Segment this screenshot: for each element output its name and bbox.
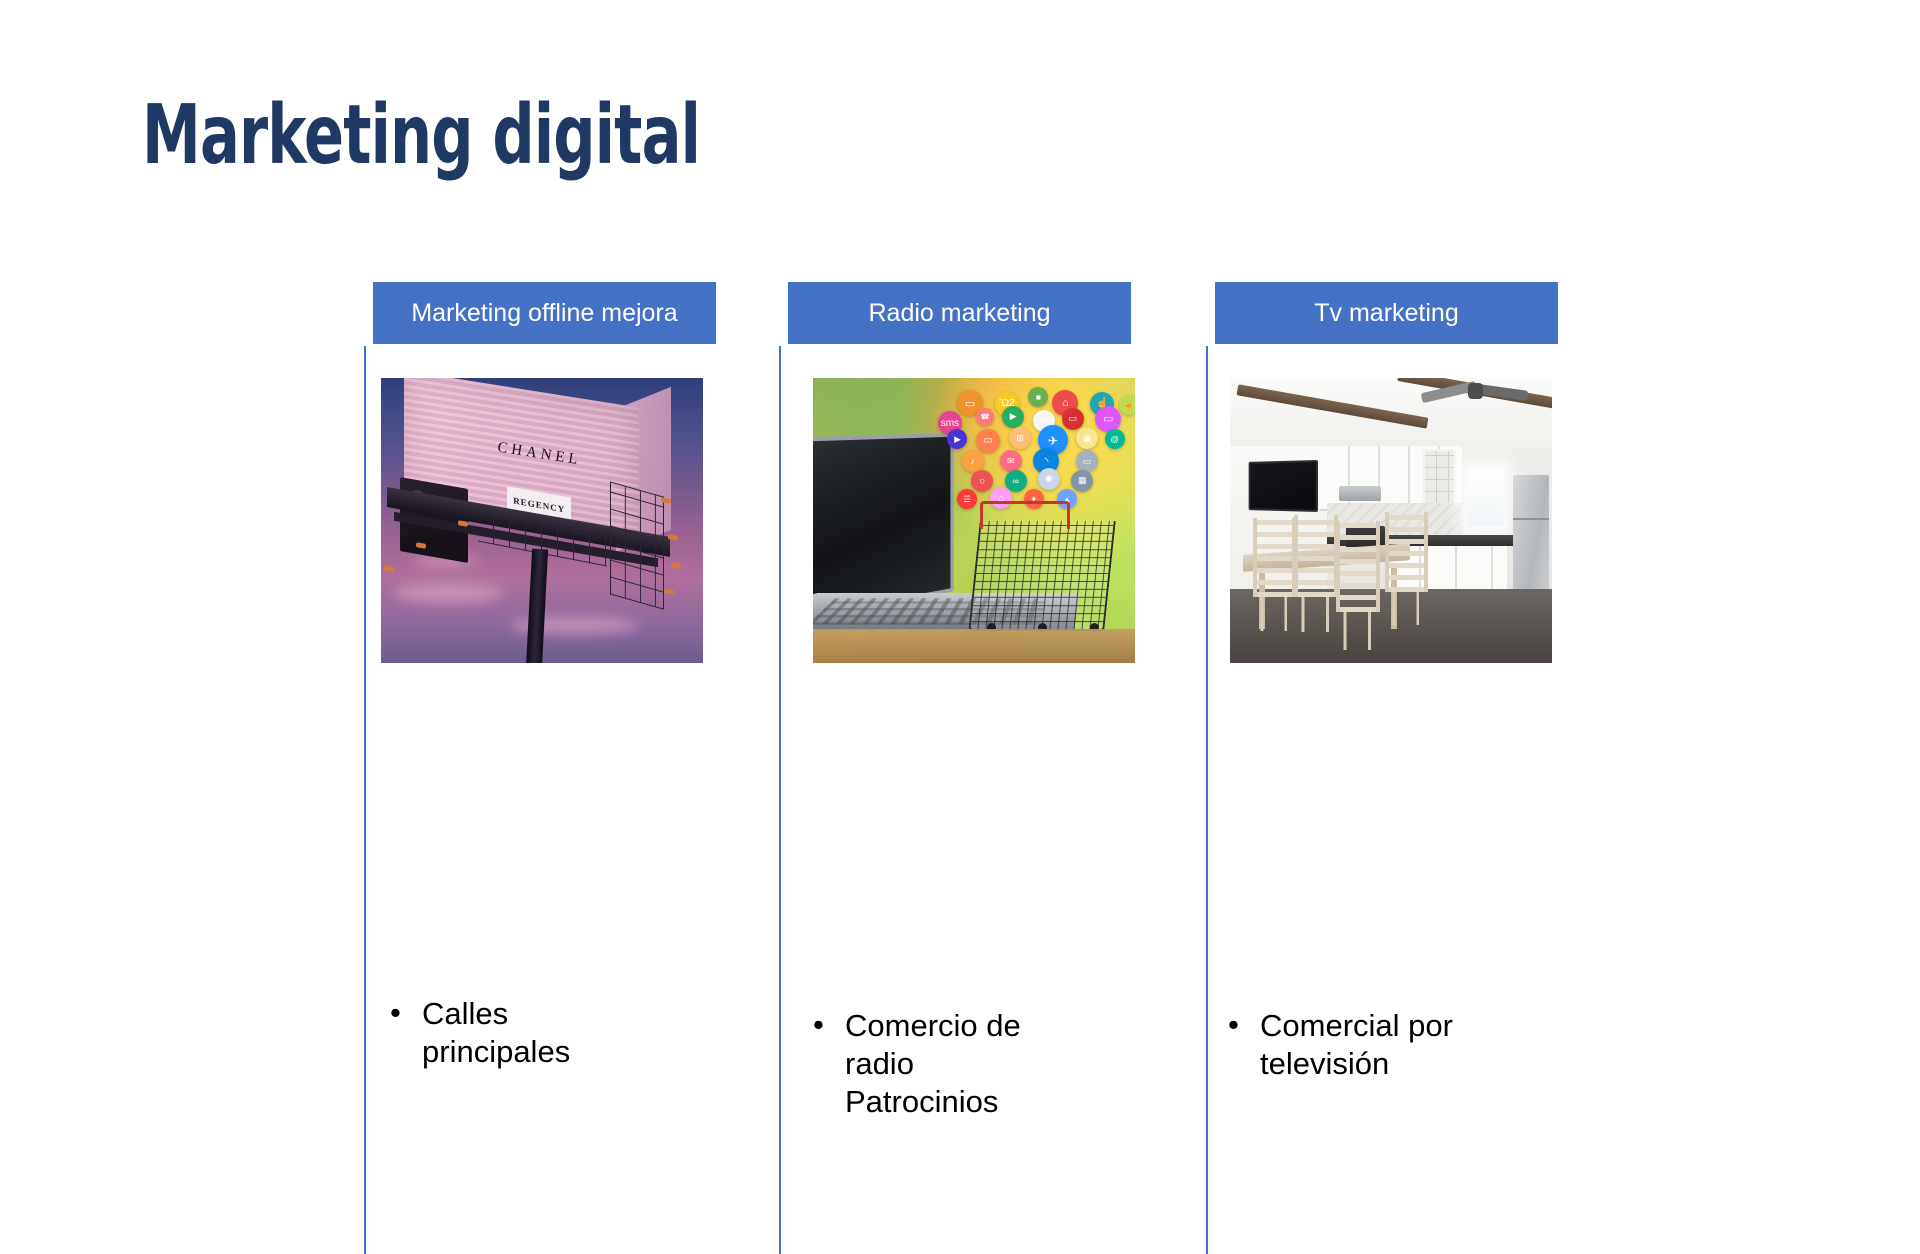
column-divider-line <box>779 346 781 1254</box>
billboard-pole <box>526 549 548 663</box>
radio-icon: ▣ <box>1076 427 1098 449</box>
laptop-app-icons-illustration: ▭Ὥ2■⌂☝☝sms☎▶□▭▭▶▭⊞✈▣@♪✉◝▭○∞◉▦☰⌂✦▲ <box>813 378 1135 663</box>
kitchen-tv-illustration <box>1230 378 1552 663</box>
chair-legs <box>1298 597 1333 632</box>
bullet-line: principales <box>422 1033 718 1071</box>
like-icon: ☝ <box>1119 395 1135 415</box>
chart-icon: ■ <box>1028 387 1048 407</box>
calc-icon: ▦ <box>1071 470 1093 492</box>
column-1-image: CHANEL REGENCY <box>381 378 703 663</box>
column-divider-line <box>364 346 366 1254</box>
shopping-cart-handle <box>980 501 1070 530</box>
dining-chair <box>1294 515 1337 598</box>
column-divider-line <box>1206 346 1208 1254</box>
bullet-line: televisión <box>1260 1045 1556 1083</box>
three-column-layout: Marketing offline mejora CHANEL REGENCY <box>0 0 1920 1080</box>
ceiling-fan-icon <box>1417 378 1533 412</box>
bullet-line: Patrocinios <box>845 1083 1141 1121</box>
column-1-header-label: Marketing offline mejora <box>411 299 677 328</box>
column-2-image: ▭Ὥ2■⌂☝☝sms☎▶□▭▭▶▭⊞✈▣@♪✉◝▭○∞◉▦☰⌂✦▲ <box>813 378 1135 663</box>
chair-legs <box>1389 592 1424 626</box>
list-item: Calles principales <box>388 995 718 1071</box>
bullet-line: Comercio de <box>845 1007 1141 1045</box>
range-hood <box>1339 486 1381 500</box>
play-icon: ▶ <box>1002 406 1024 428</box>
music-icon: ♪ <box>962 450 984 472</box>
billboard-lamp <box>661 497 671 504</box>
shopping-cart-basket <box>968 521 1116 631</box>
billboard-lamp <box>384 565 394 572</box>
list-item: Comercio de radio Patrocinios <box>811 1007 1141 1120</box>
wallet-icon: ▭ <box>1095 406 1121 432</box>
column-3-bullet-list: Comercial por televisión <box>1226 1007 1556 1083</box>
fan-hub <box>1468 383 1483 400</box>
mail-icon: @ <box>1105 429 1125 449</box>
column-3-image <box>1230 378 1552 663</box>
bullet-line: radio <box>845 1045 1141 1083</box>
laptop-icon: ▭ <box>976 429 1000 453</box>
search-icon: ○ <box>971 470 993 492</box>
dining-chair <box>1385 512 1428 592</box>
chair-legs <box>1257 597 1292 631</box>
wooden-table-surface <box>813 629 1135 663</box>
doc-icon: ☰ <box>957 489 977 509</box>
wall-mounted-tv <box>1249 460 1318 512</box>
kitchen-window <box>1465 466 1506 529</box>
billboard-lamp <box>664 588 674 595</box>
slide-canvas: Marketing digital Marketing offline mejo… <box>0 0 1920 1080</box>
dining-chair <box>1336 521 1379 612</box>
refrigerator <box>1513 475 1548 606</box>
billboard-illustration: CHANEL REGENCY <box>381 378 703 663</box>
phone-icon: ☎ <box>976 408 994 426</box>
column-2-bullet-list: Comercio de radio Patrocinios <box>811 1007 1141 1120</box>
column-2-header-label: Radio marketing <box>868 299 1050 328</box>
bullet-line: Comercial por <box>1260 1007 1556 1045</box>
bullet-line: Calles <box>422 995 718 1033</box>
dining-chair <box>1253 518 1296 598</box>
column-3-header-label: Tv marketing <box>1314 299 1458 328</box>
chair-legs <box>1340 612 1375 650</box>
column-1-header[interactable]: Marketing offline mejora <box>373 282 716 344</box>
link-icon: ∞ <box>1005 470 1027 492</box>
grid-icon: ⊞ <box>1009 427 1031 449</box>
column-3-header[interactable]: Tv marketing <box>1215 282 1558 344</box>
video-icon: ▶ <box>947 429 967 449</box>
billboard-lamp <box>671 562 681 569</box>
billboard-lattice-frame <box>610 481 664 609</box>
column-2-header[interactable]: Radio marketing <box>788 282 1131 344</box>
column-1-bullet-list: Calles principales <box>388 995 718 1071</box>
glass-front-cabinet <box>1423 449 1456 504</box>
cloud-shape <box>394 583 503 603</box>
list-item: Comercial por televisión <box>1226 1007 1556 1083</box>
card-icon: ▭ <box>1062 408 1084 430</box>
camera-icon: ◉ <box>1038 468 1060 490</box>
car-icon: ▭ <box>1076 450 1098 472</box>
envelope-icon: ✉ <box>1000 450 1022 472</box>
